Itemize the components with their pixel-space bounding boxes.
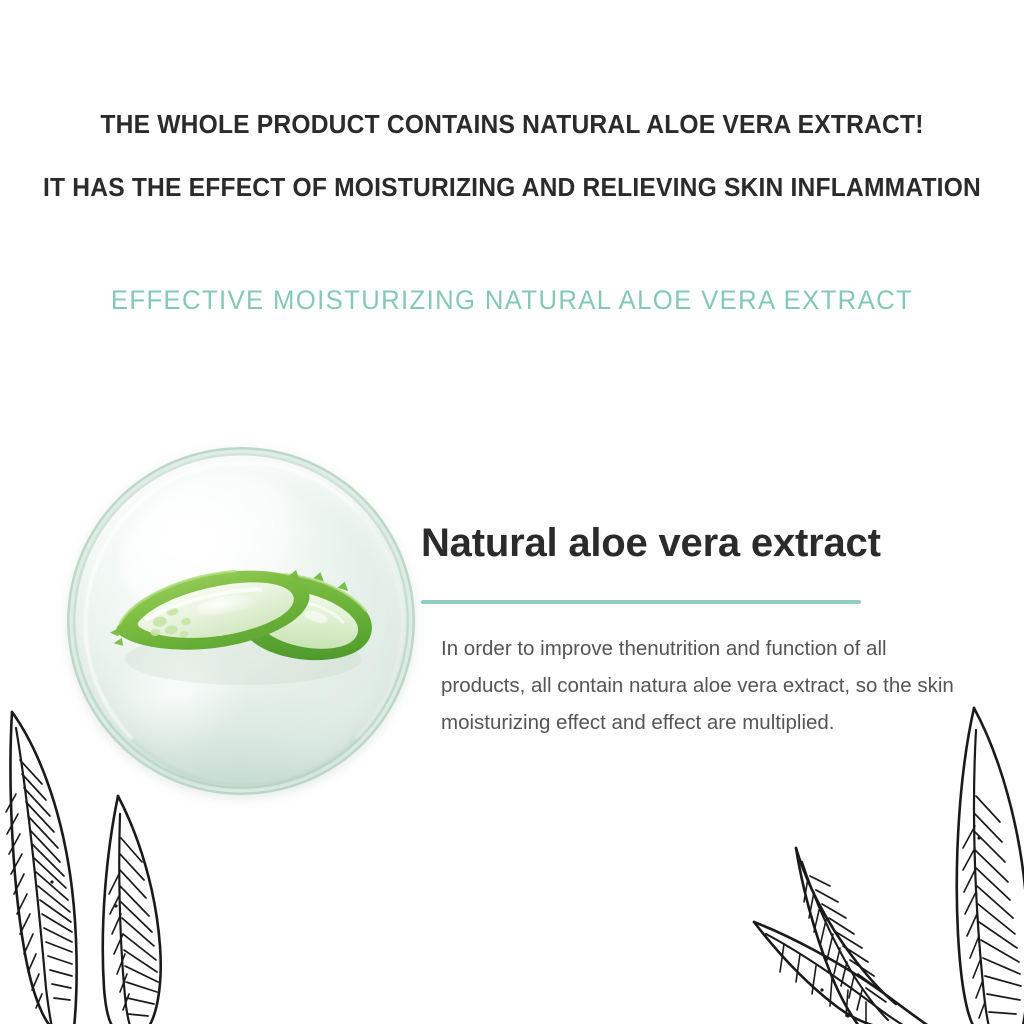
subtitle-accent: EFFECTIVE MOISTURIZING NATURAL ALOE VERA… [15, 285, 1008, 316]
headline-block: THE WHOLE PRODUCT CONTAINS NATURAL ALOE … [0, 108, 1024, 205]
title-divider [421, 600, 861, 604]
promo-page: THE WHOLE PRODUCT CONTAINS NATURAL ALOE … [0, 0, 1024, 1024]
headline-secondary: IT HAS THE EFFECT OF MOISTURIZING AND RE… [18, 171, 1006, 205]
ink-leaves-left-icon [0, 688, 294, 1024]
ink-leaves-right-icon [744, 690, 1024, 1024]
headline-primary: THE WHOLE PRODUCT CONTAINS NATURAL ALOE … [18, 108, 1006, 142]
feature-title: Natural aloe vera extract [421, 521, 881, 566]
